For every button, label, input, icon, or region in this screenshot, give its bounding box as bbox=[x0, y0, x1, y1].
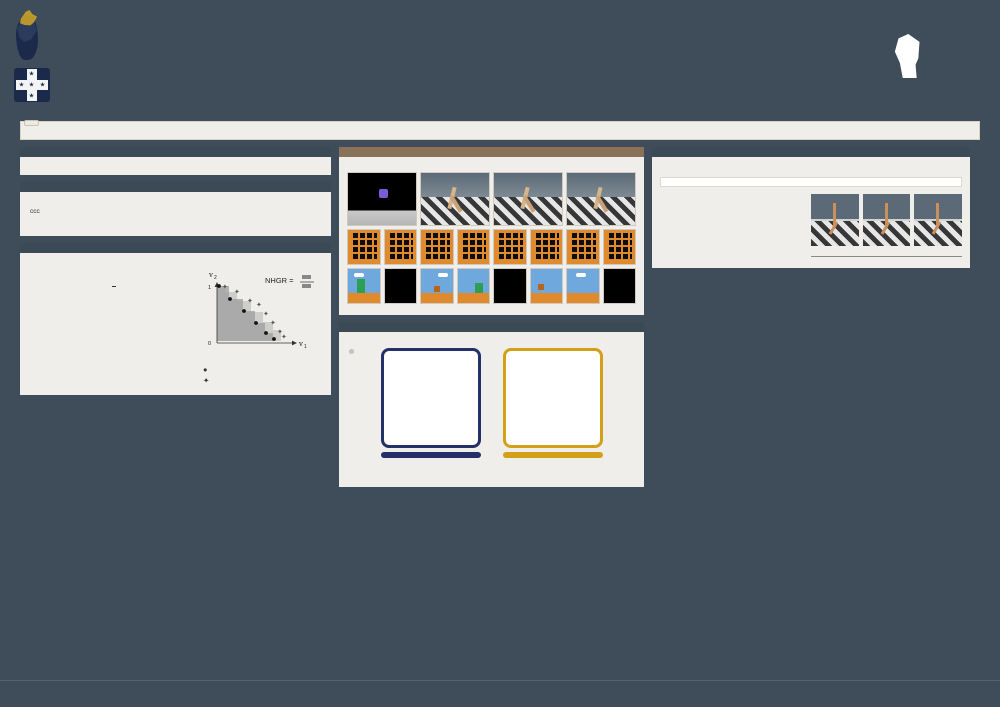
svg-text:✦: ✦ bbox=[256, 301, 262, 309]
affiliation-list bbox=[200, 68, 800, 77]
env-thumb-mario-7 bbox=[566, 268, 600, 304]
svg-text:v: v bbox=[208, 271, 213, 279]
federation-cross-icon bbox=[14, 68, 50, 102]
qr-paper[interactable] bbox=[381, 348, 481, 458]
smu-lion-icon bbox=[14, 10, 44, 62]
column-left: ccc bbox=[20, 147, 331, 487]
card-benchmark bbox=[339, 147, 644, 315]
card-motivation bbox=[20, 147, 331, 175]
evaluation-heading bbox=[20, 243, 331, 253]
hopper-frames bbox=[811, 194, 962, 246]
qr-paper-box[interactable] bbox=[381, 348, 481, 448]
iclr-logo bbox=[800, 32, 1000, 80]
qr-paper-label[interactable] bbox=[381, 452, 481, 458]
left-logos bbox=[0, 10, 200, 102]
card-future-work bbox=[339, 322, 644, 487]
affiliation-1 bbox=[467, 70, 489, 77]
hopper-frame-slippery bbox=[863, 194, 911, 246]
env-thumb-mario-3 bbox=[420, 268, 454, 304]
svg-text:✦: ✦ bbox=[263, 310, 269, 318]
affiliation-2 bbox=[511, 70, 533, 77]
card-baseline-evaluations bbox=[652, 147, 970, 268]
env-thumb-mario-6 bbox=[530, 268, 564, 304]
env-thumb-halfcheetah bbox=[493, 172, 563, 226]
svg-text:v: v bbox=[298, 340, 303, 348]
benchmark-heading bbox=[339, 147, 644, 157]
table-col-default bbox=[849, 254, 887, 257]
svg-text:✦: ✦ bbox=[270, 319, 276, 327]
env-thumb-humanoid bbox=[566, 172, 636, 226]
svg-text:NHGR =: NHGR = bbox=[265, 276, 294, 285]
benchmark-row-continuous bbox=[347, 172, 636, 226]
qr-code-label[interactable] bbox=[503, 452, 603, 458]
qr-code-image bbox=[511, 356, 595, 440]
summary-tab-label bbox=[24, 120, 39, 126]
author-list bbox=[200, 50, 800, 63]
env-thumb-hopper bbox=[420, 172, 490, 226]
column-middle bbox=[339, 147, 644, 487]
smu-logo bbox=[14, 10, 200, 62]
qr-paper-image bbox=[389, 356, 473, 440]
card-evaluation: v 2 1 0 NHGR = bbox=[20, 243, 331, 395]
poster-columns: ccc bbox=[0, 140, 1000, 487]
env-thumb-lavagrid-6 bbox=[530, 229, 564, 265]
contact-line bbox=[349, 466, 634, 478]
svg-text:✦: ✦ bbox=[234, 288, 240, 296]
behavior-table bbox=[811, 254, 962, 257]
svg-text:2: 2 bbox=[214, 275, 217, 281]
formalization-heading bbox=[20, 182, 331, 192]
hopper-frame-hard bbox=[914, 194, 962, 246]
observation-block bbox=[660, 194, 962, 260]
hopper-frame-default bbox=[811, 194, 859, 246]
poster-header bbox=[0, 0, 1000, 112]
summary-section bbox=[20, 121, 980, 140]
qr-code-row bbox=[349, 348, 634, 458]
env-thumb-lavagrid-5 bbox=[493, 229, 527, 265]
nhgr-legend-generalist: ● bbox=[203, 364, 321, 375]
benchmark-row-lavagrid bbox=[347, 229, 636, 265]
env-thumb-lavagrid-1 bbox=[347, 229, 381, 265]
env-thumb-mario-5 bbox=[493, 268, 527, 304]
svg-text:1: 1 bbox=[208, 285, 211, 291]
svg-text:✦: ✦ bbox=[281, 333, 287, 341]
env-thumb-lavagrid-2 bbox=[384, 229, 418, 265]
table-header-row bbox=[811, 254, 962, 257]
poster-root: ccc bbox=[0, 0, 1000, 707]
svg-text:✦: ✦ bbox=[247, 297, 253, 305]
card-formalization: ccc bbox=[20, 182, 331, 236]
formalization-paragraph-1: ccc bbox=[30, 207, 321, 221]
hopper-frames-and-table bbox=[811, 194, 962, 260]
svg-text:1: 1 bbox=[304, 344, 307, 350]
svg-text:0: 0 bbox=[208, 341, 211, 347]
nhgr-legend-optimal: ✦ bbox=[203, 375, 321, 386]
svg-text:✦: ✦ bbox=[222, 283, 228, 291]
iclr-head-icon bbox=[874, 32, 920, 80]
qr-code-box[interactable] bbox=[503, 348, 603, 448]
summary-text bbox=[20, 121, 980, 140]
env-thumb-mario-1 bbox=[347, 268, 381, 304]
env-thumb-lavagrid-8 bbox=[603, 229, 637, 265]
qr-code[interactable] bbox=[503, 348, 603, 458]
baseline-heading bbox=[652, 147, 970, 157]
learning-curve-card bbox=[660, 177, 962, 187]
env-thumb-mario-4 bbox=[457, 268, 491, 304]
observation-text bbox=[660, 194, 803, 260]
table-col-slippery bbox=[887, 254, 925, 257]
env-thumb-lavagrid-7 bbox=[566, 229, 600, 265]
benchmark-image-grid bbox=[339, 168, 644, 315]
env-thumb-lavagrid-3 bbox=[420, 229, 454, 265]
federation-logo bbox=[14, 68, 200, 102]
env-thumb-lavagrid-4 bbox=[457, 229, 491, 265]
table-col-hard bbox=[924, 254, 962, 257]
table-col-blank bbox=[811, 254, 849, 257]
benchmark-row-mario bbox=[347, 268, 636, 304]
future-work-heading bbox=[339, 322, 644, 332]
header-center bbox=[200, 35, 800, 77]
nhgr-pareto-plot: v 2 1 0 NHGR = bbox=[203, 267, 321, 359]
poster-footer bbox=[0, 680, 1000, 707]
env-thumb-mario-8 bbox=[603, 268, 637, 304]
env-thumb-lunarlander bbox=[347, 172, 417, 226]
env-thumb-mario-2 bbox=[384, 268, 418, 304]
nhgr-equation-numerator bbox=[112, 278, 116, 287]
motivation-heading bbox=[20, 147, 331, 157]
nhgr-equation-denominator bbox=[112, 290, 116, 298]
column-right bbox=[652, 147, 970, 487]
nhgr-equation bbox=[30, 277, 197, 300]
